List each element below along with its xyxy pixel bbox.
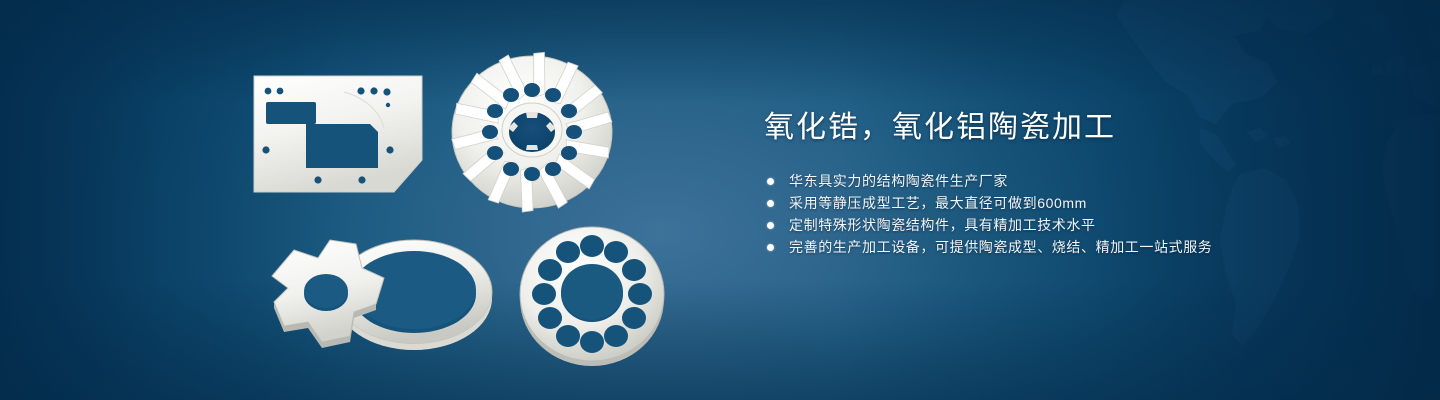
ceramic-flange-disc-photo xyxy=(512,222,672,370)
feature-text: 定制特殊形状陶瓷结构件，具有精加工技术水平 xyxy=(789,214,1096,236)
promo-banner: 氧化锆，氧化铝陶瓷加工 华东具实力的结构陶瓷件生产厂家 采用等静压成型工艺，最大… xyxy=(0,0,1440,400)
feature-text: 华东具实力的结构陶瓷件生产厂家 xyxy=(789,170,1008,192)
feature-text: 采用等静压成型工艺，最大直径可做到600mm xyxy=(789,192,1087,214)
product-photo-cluster xyxy=(0,0,720,400)
list-item: 完善的生产加工设备，可提供陶瓷成型、烧结、精加工一站式服务 xyxy=(764,236,1364,258)
bullet-dot-icon xyxy=(767,222,774,229)
bullet-dot-icon xyxy=(767,200,774,207)
ceramic-cross-ring-photo xyxy=(246,222,508,362)
list-item: 华东具实力的结构陶瓷件生产厂家 xyxy=(764,170,1364,192)
banner-copy: 氧化锆，氧化铝陶瓷加工 华东具实力的结构陶瓷件生产厂家 采用等静压成型工艺，最大… xyxy=(764,108,1364,258)
feature-list: 华东具实力的结构陶瓷件生产厂家 采用等静压成型工艺，最大直径可做到600mm 定… xyxy=(764,170,1364,258)
feature-text: 完善的生产加工设备，可提供陶瓷成型、烧结、精加工一站式服务 xyxy=(789,236,1212,258)
ceramic-impeller-photo xyxy=(442,44,622,224)
page-title: 氧化锆，氧化铝陶瓷加工 xyxy=(764,108,1364,148)
ceramic-plate-photo xyxy=(248,72,428,197)
list-item: 采用等静压成型工艺，最大直径可做到600mm xyxy=(764,192,1364,214)
bullet-dot-icon xyxy=(767,178,774,185)
list-item: 定制特殊形状陶瓷结构件，具有精加工技术水平 xyxy=(764,214,1364,236)
bullet-dot-icon xyxy=(767,244,774,251)
